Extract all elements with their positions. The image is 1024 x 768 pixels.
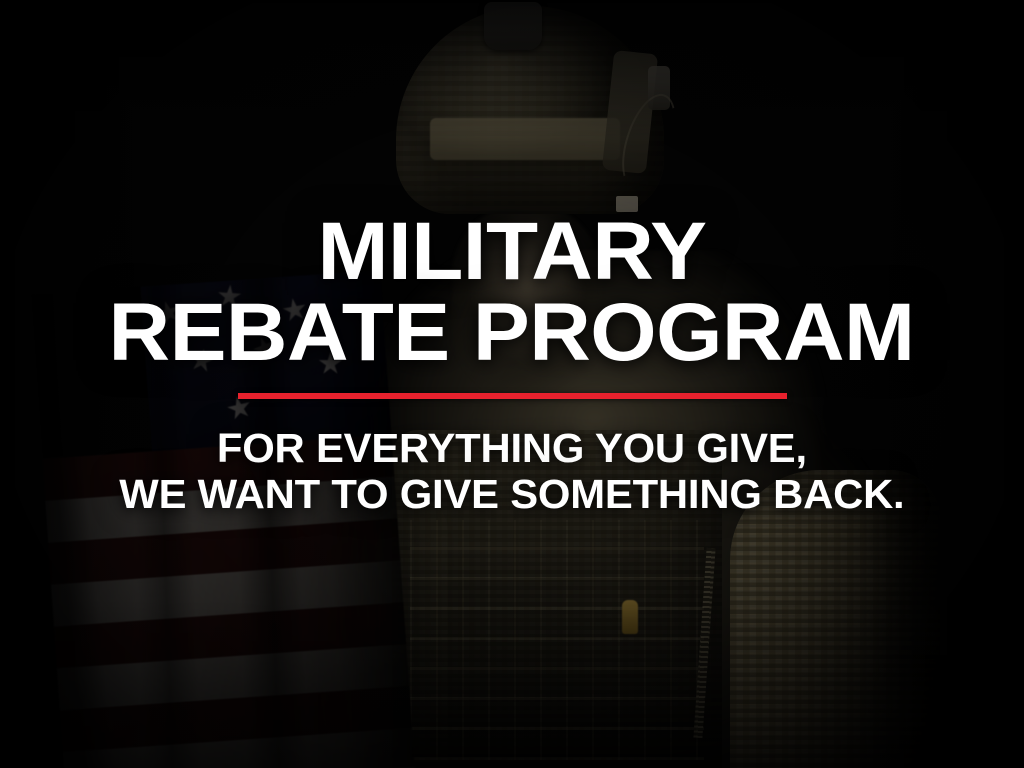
military-rebate-banner: MILITARY REBATE PROGRAM FOR EVERYTHING Y… (0, 0, 1024, 768)
subheadline: FOR EVERYTHING YOU GIVE, WE WANT TO GIVE… (119, 425, 904, 518)
red-divider (238, 393, 787, 399)
subheadline-line-2: WE WANT TO GIVE SOMETHING BACK. (119, 471, 904, 517)
headline-line-1: MILITARY (317, 214, 706, 289)
headline-line-2: REBATE PROGRAM (109, 295, 915, 370)
subheadline-line-1: FOR EVERYTHING YOU GIVE, (119, 425, 904, 471)
banner-content: MILITARY REBATE PROGRAM FOR EVERYTHING Y… (0, 0, 1024, 768)
